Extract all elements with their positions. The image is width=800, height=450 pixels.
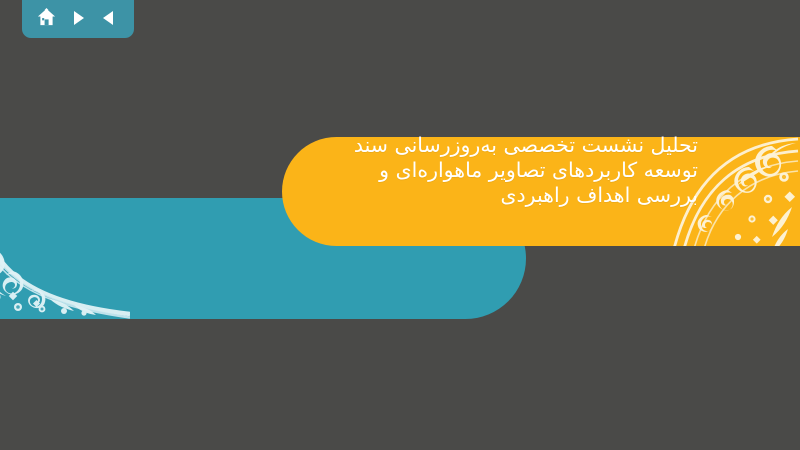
home-button[interactable] [35,6,59,30]
orange-banner [282,137,800,246]
forward-button[interactable] [66,6,90,30]
arabesque-ornament-teal [0,201,130,319]
navigation-bar [22,0,134,38]
triangle-left-icon [99,8,119,28]
triangle-right-icon [68,8,88,28]
slide-canvas: تحلیل نشست تخصصی به‌روزرسانی سند توسعه ک… [0,0,800,450]
arabesque-ornament-orange [628,137,800,246]
home-icon [36,7,57,28]
back-button[interactable] [97,6,121,30]
